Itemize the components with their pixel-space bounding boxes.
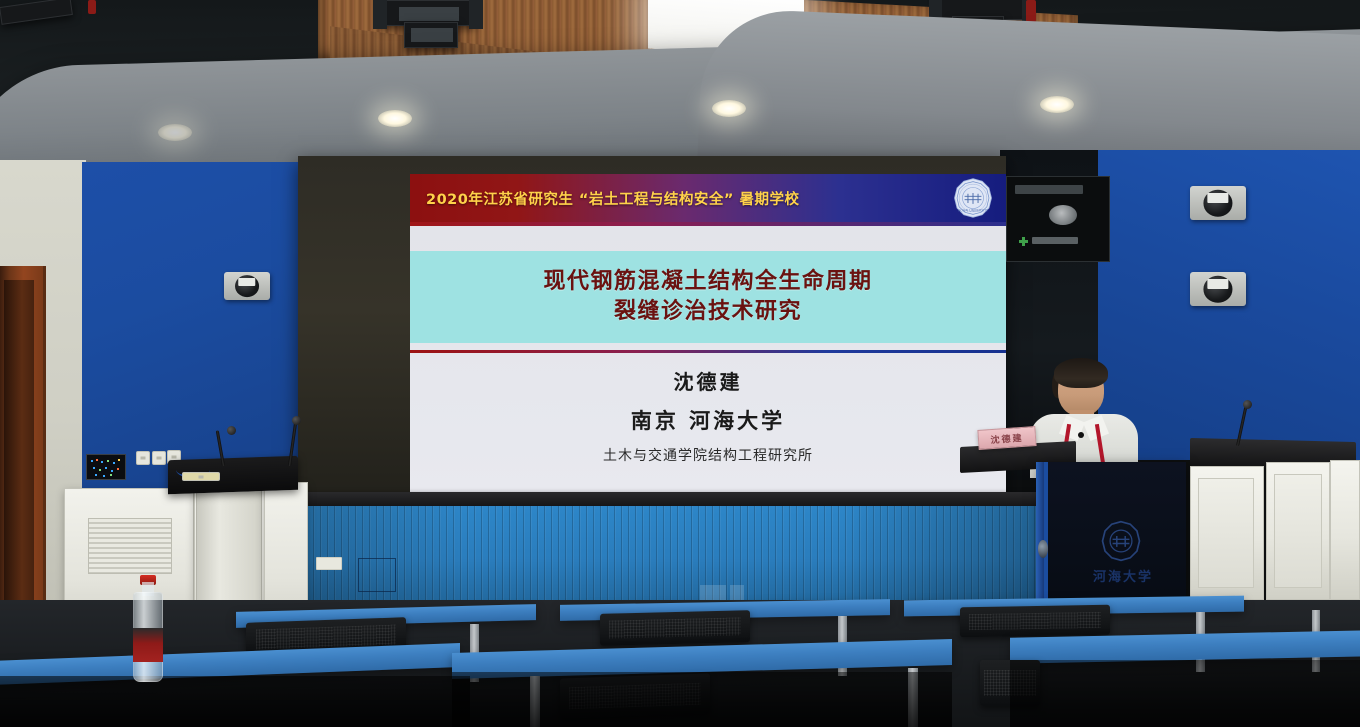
slide-divider-rule bbox=[410, 350, 1006, 353]
lectern-control-knob[interactable] bbox=[1038, 540, 1048, 558]
wall-speaker bbox=[1190, 186, 1246, 220]
table-shadow bbox=[0, 676, 470, 727]
ceiling-downlight bbox=[712, 100, 746, 117]
wall-blue-left bbox=[82, 162, 314, 494]
presenter-hair bbox=[1054, 358, 1108, 388]
display-header-bar bbox=[1015, 185, 1083, 194]
ceiling-downlight bbox=[1040, 96, 1074, 113]
equipment-cabinet[interactable] bbox=[1330, 460, 1360, 600]
table-shadow bbox=[1010, 660, 1360, 727]
wall-speaker bbox=[1190, 272, 1246, 306]
slide-title-line-1: 现代钢筋混凝土结构全生命周期 bbox=[543, 267, 872, 297]
power-outlet[interactable] bbox=[316, 557, 342, 570]
stage-panel-shading bbox=[292, 506, 1076, 602]
door-panel bbox=[4, 280, 34, 616]
slide-header-band: 2020年江苏省研究生 “岩土工程与结构安全” 暑期学校 HOHAI UNIVE… bbox=[410, 174, 1006, 222]
conference-chair bbox=[600, 610, 750, 646]
wall-control-panel[interactable] bbox=[86, 454, 126, 480]
stage-light-indicator bbox=[88, 0, 96, 14]
slide-title-line-2: 裂缝诊治技术研究 bbox=[614, 297, 802, 327]
svg-text:HOHAI UNIVERSITY: HOHAI UNIVERSITY bbox=[958, 208, 988, 212]
slide-title-band: 现代钢筋混凝土结构全生命周期 裂缝诊治技术研究 bbox=[410, 251, 1006, 343]
microphone-capsule-icon bbox=[1243, 400, 1252, 409]
lectern-logo-text: 河海大学 bbox=[1092, 566, 1154, 585]
ceiling-downlight bbox=[378, 110, 412, 127]
lecture-hall-scene: 2020年江苏省研究生 “岩土工程与结构安全” 暑期学校 HOHAI UNIVE… bbox=[0, 0, 1360, 727]
microphone-capsule-icon bbox=[227, 426, 236, 435]
presenter-affiliation: 南京 河海大学 bbox=[631, 405, 785, 435]
display-avatar-icon bbox=[1049, 205, 1077, 225]
slide-presenter-block: 沈德建 南京 河海大学 土木与交通学院结构工程研究所 bbox=[410, 366, 1006, 465]
conference-chair bbox=[960, 605, 1110, 638]
presenter-name: 沈德建 bbox=[674, 366, 743, 395]
presenter-department: 土木与交通学院结构工程研究所 bbox=[603, 445, 813, 465]
wall-speaker bbox=[224, 272, 270, 300]
cabinet-door[interactable] bbox=[1198, 478, 1254, 588]
ceiling-downlight bbox=[158, 124, 192, 141]
cabinet-door[interactable] bbox=[1274, 474, 1322, 588]
entry-door[interactable] bbox=[0, 266, 46, 630]
display-action-label bbox=[1032, 237, 1078, 244]
add-icon[interactable] bbox=[1019, 237, 1028, 246]
projection-screen: 2020年江苏省研究生 “岩土工程与结构安全” 暑期学校 HOHAI UNIVE… bbox=[298, 156, 1006, 498]
lectern-side-trim bbox=[1036, 462, 1044, 612]
nameplate-text: 沈德建 bbox=[990, 430, 1024, 445]
hohai-university-seal-icon: HOHAI UNIVERSITY bbox=[952, 177, 994, 219]
stage-light-indicator bbox=[1026, 0, 1036, 22]
presentation-slide: 2020年江苏省研究生 “岩土工程与结构安全” 暑期学校 HOHAI UNIVE… bbox=[410, 174, 1006, 494]
slide-body: 现代钢筋混凝土结构全生命周期 裂缝诊治技术研究 沈德建 南京 河海大学 土木与交… bbox=[410, 226, 1006, 494]
lapel-microphone-icon bbox=[1078, 432, 1084, 438]
power-outlet[interactable] bbox=[152, 451, 166, 465]
stage-access-hatch bbox=[358, 558, 396, 592]
power-outlet[interactable] bbox=[136, 451, 150, 465]
stage-spotlight bbox=[404, 22, 458, 48]
cabinet-louver-vent bbox=[88, 518, 172, 574]
slide-header-title: 2020年江苏省研究生 “岩土工程与结构安全” 暑期学校 bbox=[426, 188, 800, 209]
bottle-label bbox=[133, 628, 163, 662]
presenter-nameplate: 沈德建 bbox=[977, 426, 1036, 450]
hohai-university-seal-icon bbox=[1098, 520, 1144, 562]
desk-item bbox=[182, 472, 220, 481]
table-shadow bbox=[452, 672, 952, 727]
secondary-display[interactable] bbox=[1006, 176, 1110, 262]
microphone-capsule-icon bbox=[292, 416, 301, 425]
